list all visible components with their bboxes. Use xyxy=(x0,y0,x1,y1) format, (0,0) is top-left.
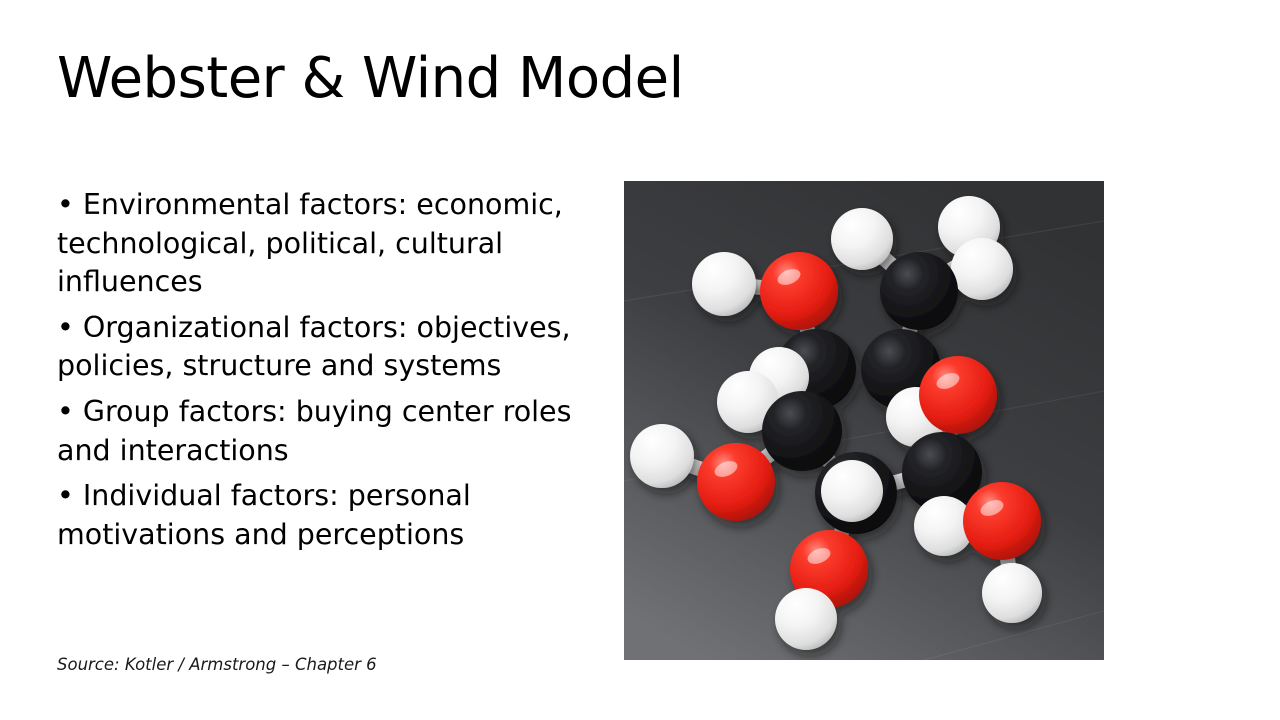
source-citation: Source: Kotler / Armstrong – Chapter 6 xyxy=(57,655,377,675)
hydrogen-atom xyxy=(831,208,893,270)
list-item: • Group factors: buying center roles and… xyxy=(57,393,602,470)
bullet-list: • Environmental factors: economic, techn… xyxy=(57,186,602,554)
oxygen-atom xyxy=(963,482,1041,560)
hydrogen-atom xyxy=(951,238,1013,300)
list-item: • Organizational factors: objectives, po… xyxy=(57,309,602,386)
carbon-atom xyxy=(762,391,842,471)
list-item: • Environmental factors: economic, techn… xyxy=(57,186,602,302)
oxygen-atom xyxy=(760,252,838,330)
hydrogen-atom xyxy=(630,424,694,488)
molecule-illustration xyxy=(624,181,1104,660)
hydrogen-atom xyxy=(692,252,756,316)
hydrogen-atom xyxy=(982,563,1042,623)
slide-canvas: Webster & Wind Model • Environmental fac… xyxy=(0,0,1280,720)
oxygen-atom xyxy=(919,356,997,434)
carbon-atom xyxy=(880,252,958,330)
list-item: • Individual factors: personal motivatio… xyxy=(57,477,602,554)
molecular-model-image xyxy=(624,181,1104,660)
page-title: Webster & Wind Model xyxy=(57,48,757,111)
oxygen-atom xyxy=(697,443,775,521)
hydrogen-atom xyxy=(821,460,883,522)
hydrogen-atom xyxy=(775,588,837,650)
